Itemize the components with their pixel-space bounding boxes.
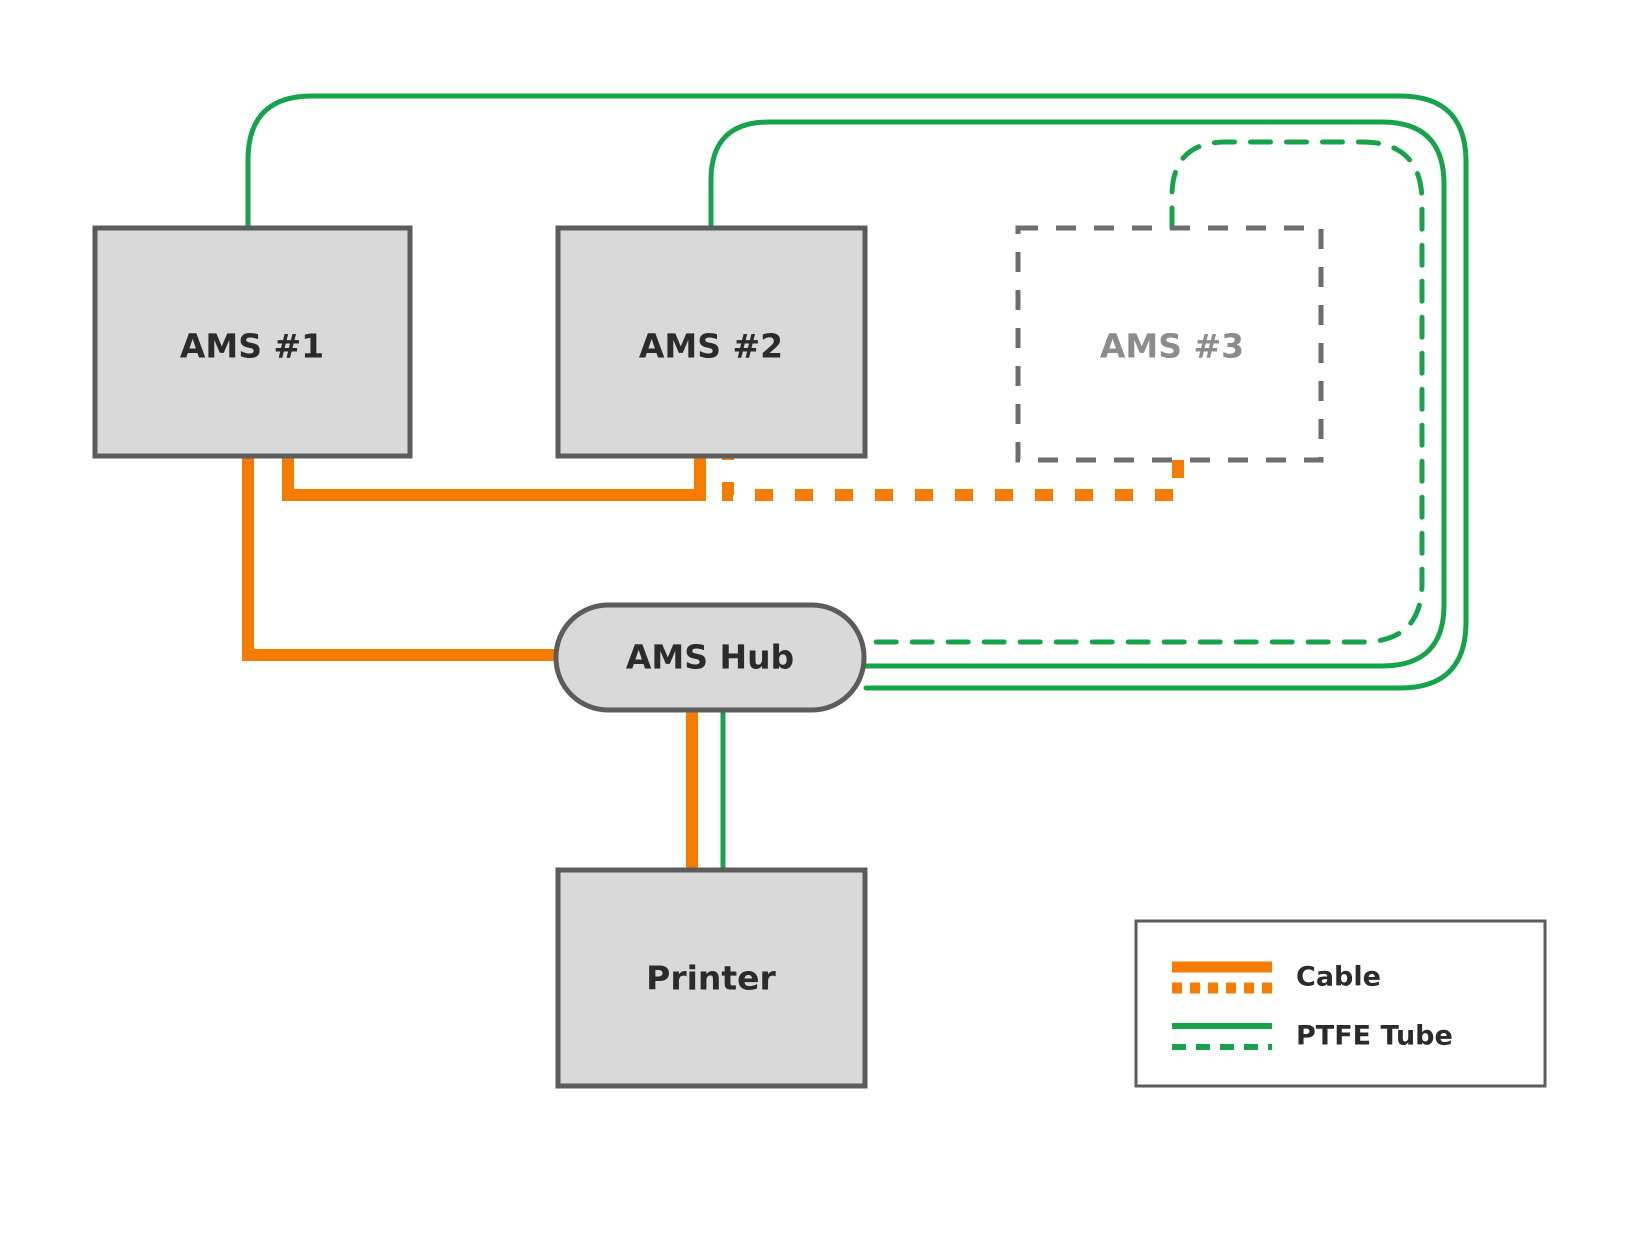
tube-ams3-to-hub [866,142,1422,642]
cable-ams2-to-ams1 [288,456,700,495]
diagram-canvas: AMS #1 AMS #2 AMS #3 AMS Hub Printer [0,0,1646,1246]
legend: Cable PTFE Tube [1136,921,1545,1086]
cable-ams1-to-hub [248,456,558,655]
node-ams3-placeholder[interactable]: AMS #3 [1018,228,1321,460]
node-ams3-label: AMS #3 [1100,327,1244,366]
legend-cable-label: Cable [1296,962,1381,993]
node-ams1-label: AMS #1 [180,327,324,366]
legend-tube-label: PTFE Tube [1296,1021,1453,1052]
node-ams1[interactable]: AMS #1 [95,228,410,456]
node-hub[interactable]: AMS Hub [556,605,864,710]
ptfe-tube-group [248,96,1466,870]
node-printer-label: Printer [646,959,776,998]
node-ams2[interactable]: AMS #2 [558,228,865,456]
node-printer[interactable]: Printer [558,870,865,1086]
cable-ams3-to-ams2 [728,456,1178,495]
node-ams2-label: AMS #2 [639,327,783,366]
ams-hub-diagram: AMS #1 AMS #2 AMS #3 AMS Hub Printer [0,0,1646,1246]
legend-box [1136,921,1545,1086]
node-hub-label: AMS Hub [626,638,794,677]
